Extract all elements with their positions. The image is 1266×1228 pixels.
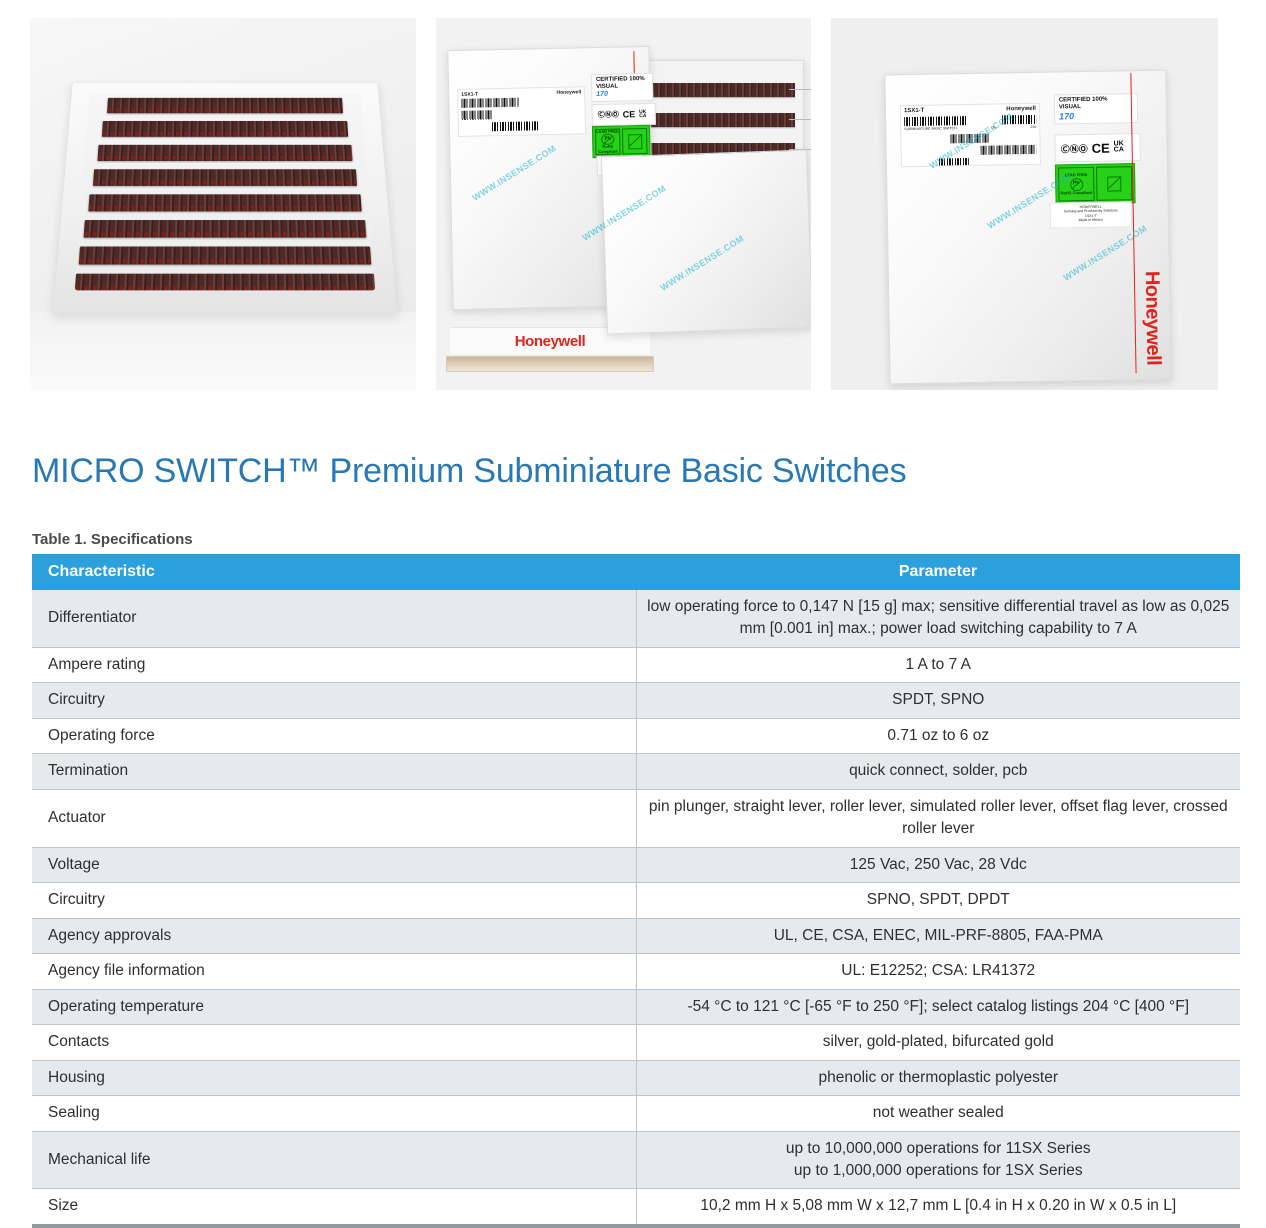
table-row: Ampere rating1 A to 7 A xyxy=(32,647,1240,682)
part-number: 1SX1-T xyxy=(461,92,478,99)
product-photo-closed-box[interactable]: 1SX1-T Honeywell SUBMINIATURE BASIC SWIT… xyxy=(831,18,1218,390)
cell-characteristic: Agency approvals xyxy=(32,918,636,953)
foam-cover xyxy=(601,149,811,334)
lead-free-cell: LEAD FREE Pb RoHS Compliant xyxy=(595,129,621,156)
tray-inner xyxy=(75,93,375,290)
table-row: Size10,2 mm H x 5,08 mm W x 12,7 mm L [0… xyxy=(32,1189,1240,1226)
cell-characteristic: Mechanical life xyxy=(32,1131,636,1189)
table-row: Terminationquick connect, solder, pcb xyxy=(32,754,1240,789)
table-row: Contactssilver, gold-plated, bifurcated … xyxy=(32,1025,1240,1060)
cell-characteristic: Differentiator xyxy=(32,590,636,647)
cell-characteristic: Agency file information xyxy=(32,954,636,989)
cell-parameter: not weather sealed xyxy=(636,1096,1240,1131)
cell-characteristic: Contacts xyxy=(32,1025,636,1060)
cr-us-mark-icon: ⒸⓃⓄ xyxy=(598,110,619,120)
product-photo-open-box[interactable]: 1SX1-T Honeywell CERTIFIED 100% VISUAL 1… xyxy=(436,18,811,390)
page-title: MICRO SWITCH™ Premium Subminiature Basic… xyxy=(32,452,1266,491)
part-number: 1SX1-T xyxy=(904,108,924,116)
table-row: CircuitrySPNO, SPDT, DPDT xyxy=(32,883,1240,918)
cell-characteristic: Actuator xyxy=(32,789,636,847)
cell-characteristic: Circuitry xyxy=(32,683,636,718)
table-row: Operating temperature-54 °C to 121 °C [-… xyxy=(32,989,1240,1024)
switch-strip xyxy=(647,83,795,97)
cell-characteristic: Operating force xyxy=(32,718,636,753)
table-body: Differentiatorlow operating force to 0,1… xyxy=(32,590,1240,1226)
cert-handwritten-number: 170 xyxy=(596,90,648,99)
column-header-characteristic: Characteristic xyxy=(32,554,636,590)
photo-backdrop xyxy=(30,312,416,390)
switch-row xyxy=(107,98,343,113)
cell-characteristic: Operating temperature xyxy=(32,989,636,1024)
rohs-compliant-text: RoHS Compliant xyxy=(596,145,619,154)
table-row: Operating force0.71 oz to 6 oz xyxy=(32,718,1240,753)
table-row: Mechanical lifeup to 10,000,000 operatio… xyxy=(32,1131,1240,1189)
cell-characteristic: Ampere rating xyxy=(32,647,636,682)
table-row: Agency file informationUL: E12252; CSA: … xyxy=(32,954,1240,989)
origin-line-4: Made in Mexico xyxy=(1054,217,1128,223)
barcode xyxy=(461,98,519,108)
barcode xyxy=(939,158,969,167)
cell-parameter: up to 10,000,000 operations for 11SX Ser… xyxy=(636,1131,1240,1189)
table-row: CircuitrySPDT, SPNO xyxy=(32,683,1240,718)
switch-strip xyxy=(647,113,795,127)
switch-row xyxy=(83,220,367,238)
rohs-lead-free-label: LEAD FREE Pb RoHS Compliant xyxy=(1055,163,1136,204)
box-bottom-strip xyxy=(446,356,654,372)
barcode xyxy=(492,121,540,131)
switch-row xyxy=(97,145,353,161)
table-row: Actuatorpin plunger, straight lever, rol… xyxy=(32,789,1240,847)
product-label: 1SX1-T Honeywell SUBMINIATURE BASIC SWIT… xyxy=(900,103,1041,167)
approval-marks-label: ⒸⓃⓄ CE UKCA xyxy=(1054,133,1140,162)
lead-free-cell: LEAD FREE Pb RoHS Compliant xyxy=(1058,167,1095,202)
ukca-mark-icon: UKCA xyxy=(1114,141,1124,153)
cell-parameter: pin plunger, straight lever, roller leve… xyxy=(636,789,1240,847)
honeywell-logo: Honeywell xyxy=(515,333,586,350)
specifications-table: Characteristic Parameter Differentiatorl… xyxy=(32,554,1240,1228)
ukca-mark-icon: UKCA xyxy=(639,109,646,118)
cell-parameter: quick connect, solder, pcb xyxy=(636,754,1240,789)
red-accent-line xyxy=(633,51,635,73)
no-lead-icon: Pb xyxy=(1070,178,1083,191)
switch-row xyxy=(78,247,372,265)
cell-characteristic: Termination xyxy=(32,754,636,789)
cr-us-mark-icon: ⒸⓃⓄ xyxy=(1061,141,1088,154)
cell-parameter: silver, gold-plated, bifurcated gold xyxy=(636,1025,1240,1060)
table-row: Agency approvalsUL, CE, CSA, ENEC, MIL-P… xyxy=(32,918,1240,953)
table-head: Characteristic Parameter xyxy=(32,554,1240,590)
barcode xyxy=(1002,114,1036,124)
rohs-compliant-text: RoHS Compliant xyxy=(1061,190,1093,195)
strip-wire xyxy=(789,89,811,90)
barcode xyxy=(904,116,966,126)
product-description: SUBMINIATURE BASIC SWITCH xyxy=(904,126,957,131)
switch-row xyxy=(102,121,349,137)
certified-visual-label: CERTIFIED 100% VISUAL 170 xyxy=(1054,93,1139,125)
cell-parameter: phenolic or thermoplastic polyester xyxy=(636,1060,1240,1095)
product-photo-tray-of-switches[interactable] xyxy=(30,18,416,390)
barcode xyxy=(950,134,990,144)
weee-cell xyxy=(622,128,648,155)
cert-handwritten-number: 170 xyxy=(1059,110,1133,122)
rohs-lead-free-label: LEAD FREE Pb RoHS Compliant xyxy=(592,125,651,158)
cell-parameter: SPNO, SPDT, DPDT xyxy=(636,883,1240,918)
product-label: 1SX1-T Honeywell xyxy=(457,86,586,137)
cell-parameter: 1 A to 7 A xyxy=(636,647,1240,682)
switch-row xyxy=(88,194,362,211)
weee-cell xyxy=(1096,166,1133,201)
cell-parameter: 125 Vac, 250 Vac, 28 Vdc xyxy=(636,847,1240,882)
cell-characteristic: Housing xyxy=(32,1060,636,1095)
strip-wire xyxy=(789,119,811,120)
brand-name: Honeywell xyxy=(556,89,581,96)
cell-parameter: -54 °C to 121 °C [-65 °F to 250 °F]; sel… xyxy=(636,989,1240,1024)
barcode xyxy=(981,145,1037,155)
switch-row xyxy=(75,274,375,291)
brand-name: Honeywell xyxy=(1006,106,1036,114)
switch-row xyxy=(93,169,358,186)
cell-characteristic: Sealing xyxy=(32,1096,636,1131)
cell-parameter: 0.71 oz to 6 oz xyxy=(636,718,1240,753)
ce-mark-icon: CE xyxy=(623,109,636,119)
certified-visual-label: CERTIFIED 100% VISUAL 170 xyxy=(591,73,654,102)
crossed-out-bin-icon xyxy=(628,134,642,149)
cell-characteristic: Voltage xyxy=(32,847,636,882)
qty-value: 240 xyxy=(1030,124,1036,128)
honeywell-side-logo: Honeywell xyxy=(1140,270,1165,365)
cell-parameter: SPDT, SPNO xyxy=(636,683,1240,718)
cell-parameter: UL: E12252; CSA: LR41372 xyxy=(636,954,1240,989)
closed-box: 1SX1-T Honeywell SUBMINIATURE BASIC SWIT… xyxy=(884,70,1171,385)
product-image-gallery: 1SX1-T Honeywell CERTIFIED 100% VISUAL 1… xyxy=(0,0,1266,390)
cell-parameter: UL, CE, CSA, ENEC, MIL-PRF-8805, FAA-PMA xyxy=(636,918,1240,953)
cell-characteristic: Size xyxy=(32,1189,636,1226)
table-row: Differentiatorlow operating force to 0,1… xyxy=(32,590,1240,647)
approval-marks-label: ⒸⓃⓄ CE UKCA xyxy=(591,103,655,126)
cell-characteristic: Circuitry xyxy=(32,883,636,918)
cert-line-1: CERTIFIED 100% xyxy=(596,76,648,84)
cell-parameter: 10,2 mm H x 5,08 mm W x 12,7 mm L [0.4 i… xyxy=(636,1189,1240,1226)
crossed-out-bin-icon xyxy=(1107,176,1121,191)
qty-label: Qty xyxy=(991,125,997,129)
barcode xyxy=(462,110,492,120)
table-row: Housingphenolic or thermoplastic polyest… xyxy=(32,1060,1240,1095)
origin-label: HONEYWELL Sensing and Productivity Solut… xyxy=(1050,201,1132,228)
table-row: Sealingnot weather sealed xyxy=(32,1096,1240,1131)
switch-tray xyxy=(52,82,398,314)
cell-parameter: low operating force to 0,147 N [15 g] ma… xyxy=(636,590,1240,647)
column-header-parameter: Parameter xyxy=(636,554,1240,590)
table-header-row: Characteristic Parameter xyxy=(32,554,1240,590)
ce-mark-icon: CE xyxy=(1092,140,1110,155)
table-caption: Table 1. Specifications xyxy=(32,531,1266,548)
table-row: Voltage125 Vac, 250 Vac, 28 Vdc xyxy=(32,847,1240,882)
